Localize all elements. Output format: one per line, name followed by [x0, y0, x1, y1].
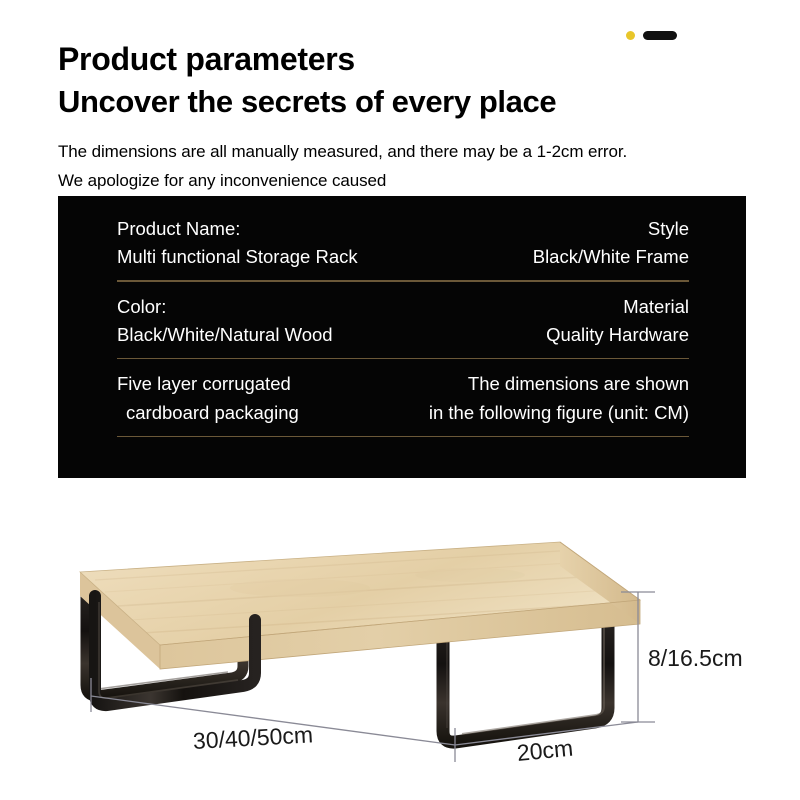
- dimension-label-height: 8/16.5cm: [648, 645, 743, 672]
- spec-cell-right: Material Quality Hardware: [546, 293, 689, 349]
- row-divider: [117, 436, 689, 438]
- spec-value: Multi functional Storage Rack: [117, 243, 358, 271]
- spec-cell-left: Five layer corrugated cardboard packagin…: [117, 370, 299, 426]
- spec-value: in the following figure (unit: CM): [429, 399, 689, 427]
- spec-value: Black/White Frame: [533, 243, 689, 271]
- spec-value: cardboard packaging: [117, 399, 299, 427]
- spec-value: Black/White/Natural Wood: [117, 321, 333, 349]
- specification-table: Product Name: Multi functional Storage R…: [117, 215, 689, 448]
- spec-cell-left: Product Name: Multi functional Storage R…: [117, 215, 358, 271]
- spec-value: Quality Hardware: [546, 321, 689, 349]
- black-bar-icon: [643, 31, 677, 40]
- spec-label: Color:: [117, 293, 166, 321]
- spec-cell-right: The dimensions are shown in the followin…: [429, 370, 689, 426]
- spec-label: The dimensions are shown: [468, 370, 689, 398]
- spec-row: Color: Black/White/Natural Wood Material…: [117, 293, 689, 358]
- specification-panel: Product Name: Multi functional Storage R…: [58, 196, 746, 478]
- page-subtitle: Uncover the secrets of every place: [58, 85, 556, 119]
- spec-cell-left: Color: Black/White/Natural Wood: [117, 293, 333, 349]
- spec-cell-right: Style Black/White Frame: [533, 215, 689, 271]
- spec-label: Style: [648, 215, 689, 243]
- measurement-note-line-2: We apologize for any inconvenience cause…: [58, 171, 386, 191]
- yellow-dot-icon: [626, 31, 635, 40]
- page-title: Product parameters: [58, 42, 355, 77]
- dimension-label-depth: 20cm: [516, 735, 575, 767]
- spec-label: Material: [623, 293, 689, 321]
- spec-label: Five layer corrugated: [117, 370, 291, 398]
- spec-row: Five layer corrugated cardboard packagin…: [117, 370, 689, 435]
- decorative-marker: [626, 31, 677, 40]
- measurement-note-line-1: The dimensions are all manually measured…: [58, 142, 627, 162]
- spec-row: Product Name: Multi functional Storage R…: [117, 215, 689, 280]
- row-divider: [117, 280, 689, 282]
- wood-board: [80, 542, 640, 669]
- row-divider: [117, 358, 689, 360]
- spec-label: Product Name:: [117, 215, 240, 243]
